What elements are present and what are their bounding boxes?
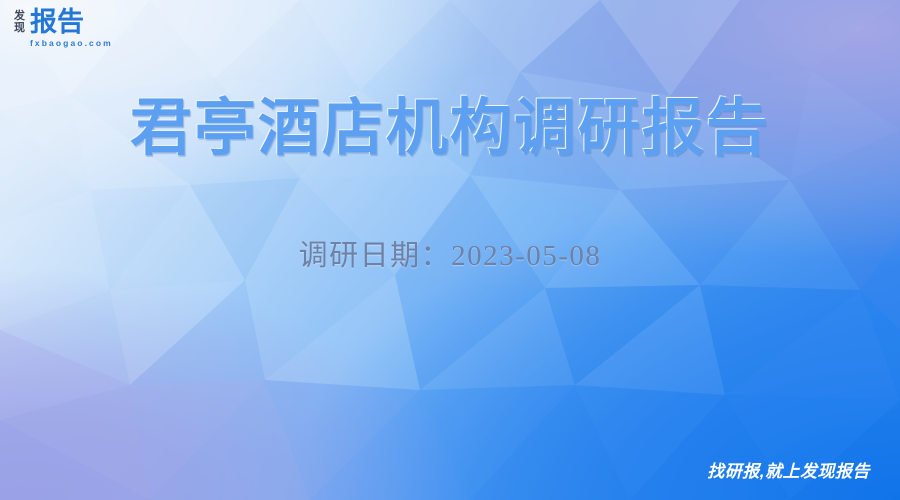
brand-logo-mark-line1: 发 [14,10,25,22]
brand-domain: fxbaogao.com [30,38,113,49]
brand-logo-mark-line2: 现 [14,22,25,34]
page-title: 君亭酒店机构调研报告 [0,92,900,166]
report-cover-slide: 发 现 报告 fxbaogao.com 君亭酒店机构调研报告 调研日期：2023… [0,0,900,500]
survey-date-subtitle: 调研日期：2023-05-08 [0,236,900,276]
footer-tagline: 找研报,就上发现报告 [707,461,870,483]
brand-logo[interactable]: 发 现 报告 fxbaogao.com [14,9,113,49]
brand-wordmark: 报告 [30,9,113,36]
brand-logo-text: 报告 fxbaogao.com [30,9,113,49]
brand-logo-mark: 发 现 [14,9,25,34]
